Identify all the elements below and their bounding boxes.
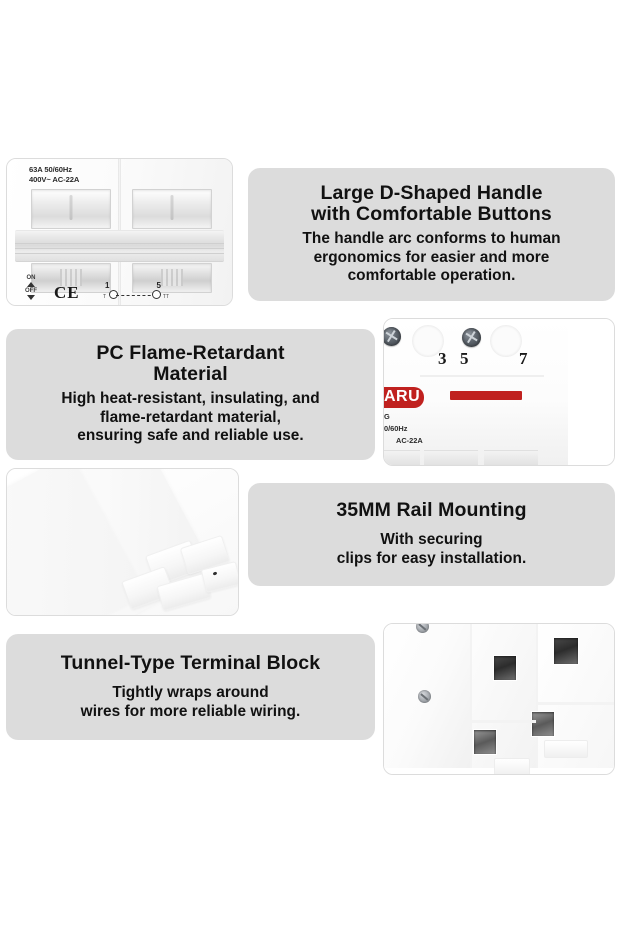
- feature-body-line-2: ergonomics for easier and more: [314, 249, 550, 268]
- handle-ridge: [15, 243, 224, 244]
- feature-body-line-2: clips for easy installation.: [337, 550, 527, 569]
- body-seam-1: [470, 623, 472, 768]
- brand-red-bar: [450, 391, 522, 400]
- terminal-sub-left: T: [103, 294, 106, 300]
- feature-title-line-1: Large D-Shaped Handle: [320, 183, 542, 204]
- wire-port-4: [532, 712, 554, 736]
- terminal-sub-right: TT: [163, 294, 169, 300]
- breaker-d-shaped-handle: [15, 230, 224, 262]
- feature-body-line-1: With securing: [380, 531, 482, 550]
- feature-title-line-1: PC Flame-Retardant: [96, 343, 284, 364]
- breaker-slot: [171, 195, 174, 220]
- photo-brand-terminals: 3 5 7 ARU G 0/60Hz AC-22A: [383, 318, 615, 466]
- terminal-number-5: 5: [157, 281, 161, 290]
- brand-spec-line-2: 0/60Hz: [384, 423, 407, 434]
- photo-rail-mounting: [6, 468, 239, 616]
- module-groove-2: [482, 375, 544, 377]
- terminal-screw-icon-2: [462, 328, 481, 347]
- breaker-spec-line-1: 63A 50/60Hz: [29, 165, 72, 175]
- off-label: OFF: [25, 288, 37, 294]
- photo-breaker-front: 63A 50/60Hz 400V~ AC-22A ON OFF: [6, 158, 233, 306]
- photo-tunnel-terminal-block: [383, 623, 615, 775]
- body-seam-2: [536, 623, 538, 768]
- handle-ridge: [15, 248, 224, 249]
- feature-body-line-2: wires for more reliable wiring.: [81, 703, 301, 722]
- mounting-tab-1: [494, 758, 530, 775]
- pole-number-3: 3: [438, 349, 447, 369]
- wire-port-2: [554, 638, 578, 664]
- wire-port-1: [494, 656, 516, 680]
- feature-title-line-2: with Comfortable Buttons: [311, 204, 552, 225]
- brand-spec-line-1: G: [384, 411, 390, 422]
- terminal-number-1: 1: [105, 281, 109, 290]
- pole-number-5: 5: [460, 349, 469, 369]
- feature-body-line-2: flame-retardant material,: [100, 409, 281, 428]
- feature-body-line-1: High heat-resistant, insulating, and: [61, 390, 319, 409]
- pole-number-7: 7: [519, 349, 528, 369]
- feature-title-line-1: Tunnel-Type Terminal Block: [61, 653, 320, 674]
- terminal-circle-right: [152, 290, 161, 299]
- body-ledge-2: [538, 702, 615, 705]
- wire-port-3: [474, 730, 496, 754]
- module-foot-3: [484, 450, 538, 465]
- on-label: ON: [25, 275, 37, 281]
- breaker-terminal-schematic: 1 T 5 TT: [103, 281, 169, 301]
- feature-body-line-1: Tightly wraps around: [112, 684, 268, 703]
- breaker-upper-window-left: [31, 189, 111, 229]
- breaker-spec-line-2: 400V~ AC-22A: [29, 175, 79, 185]
- terminal-dashed-link: [116, 295, 156, 296]
- breaker-upper-window-right: [132, 189, 212, 229]
- mounting-tab-2: [544, 740, 588, 758]
- module-groove-1: [420, 375, 482, 377]
- module-foot-1: [384, 450, 420, 465]
- brand-logo-label: ARU: [383, 387, 424, 408]
- feature-card-handle: Large D-Shaped Handle with Comfortable B…: [248, 168, 615, 301]
- feature-body-line-3: ensuring safe and reliable use.: [77, 427, 304, 446]
- feature-card-tunnel-terminal: Tunnel-Type Terminal Block Tightly wraps…: [6, 634, 375, 740]
- feature-card-flame-retardant: PC Flame-Retardant Material High heat-re…: [6, 329, 375, 460]
- brand-spec-line-3: AC-22A: [396, 435, 423, 446]
- feature-body-line-3: comfortable operation.: [348, 267, 516, 286]
- breaker-on-off-indicator: ON OFF: [25, 275, 37, 301]
- breaker-slot: [70, 195, 73, 220]
- feature-body-line-1: The handle arc conforms to human: [302, 230, 560, 249]
- infographic-canvas: 63A 50/60Hz 400V~ AC-22A ON OFF: [0, 0, 621, 931]
- ce-mark-icon: CE: [54, 283, 80, 303]
- feature-title-line-1: 35MM Rail Mounting: [336, 500, 526, 521]
- screw-recess-2: [490, 325, 522, 357]
- feature-card-rail-mounting: 35MM Rail Mounting With securing clips f…: [248, 483, 615, 586]
- handle-ridge: [15, 253, 224, 254]
- feature-title-line-2: Material: [153, 364, 228, 385]
- arrow-down-icon: [27, 295, 35, 300]
- module-foot-2: [424, 450, 478, 465]
- module-side-wall: [544, 319, 568, 465]
- arrow-up-icon: [27, 282, 35, 287]
- body-ledge-1: [472, 720, 536, 723]
- terminal-screw-icon-bottom: [418, 690, 431, 703]
